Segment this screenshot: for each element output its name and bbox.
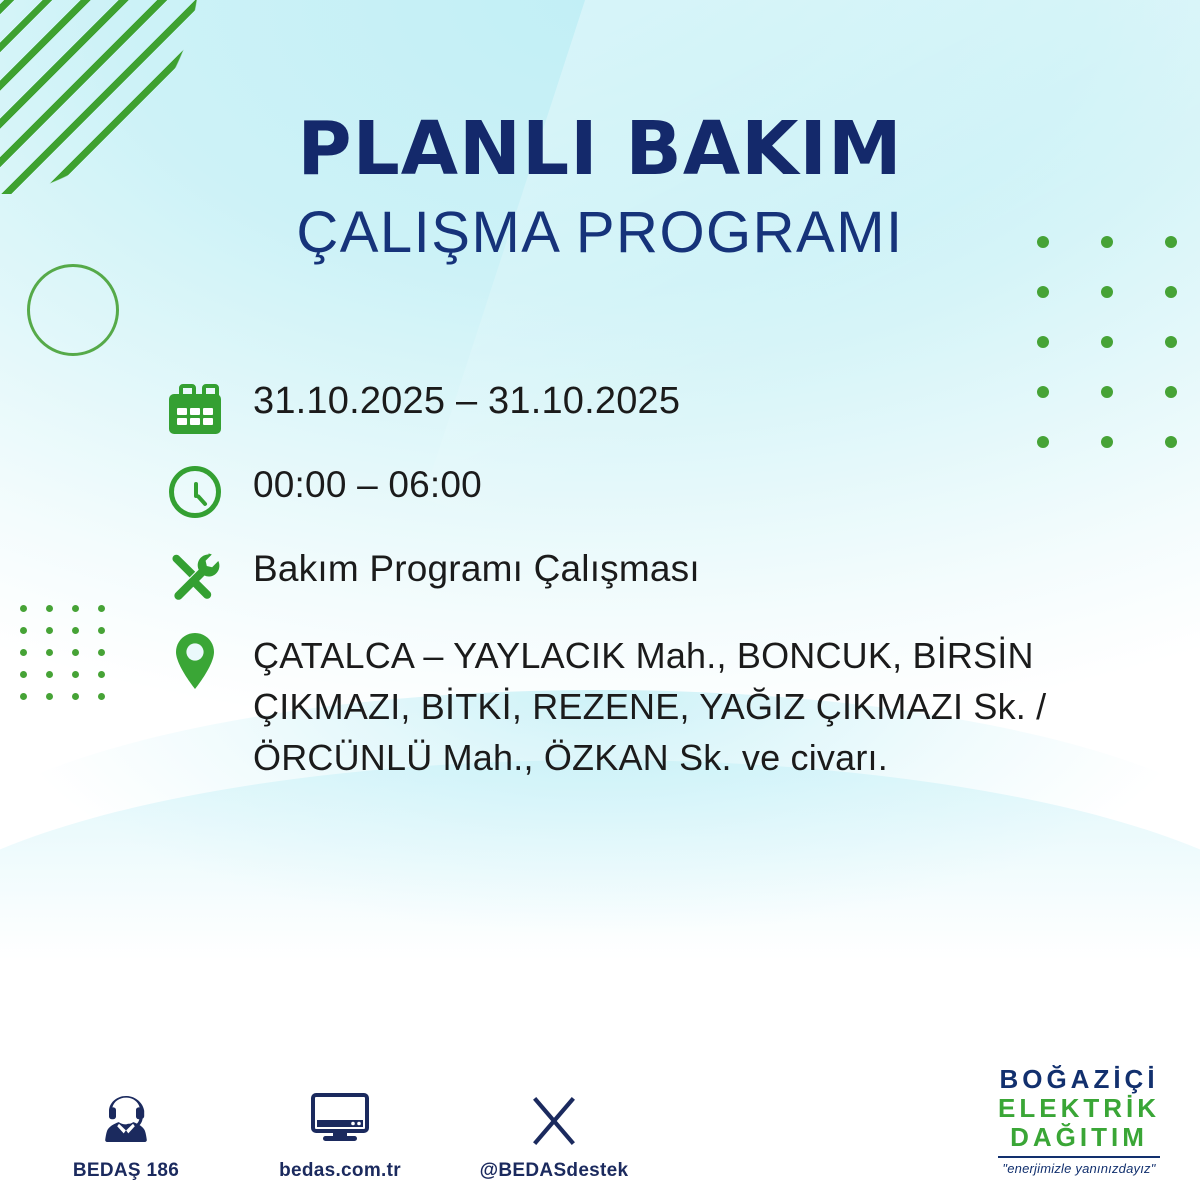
date-range-text: 31.10.2025 – 31.10.2025 <box>227 378 680 426</box>
logo-divider <box>998 1156 1160 1158</box>
contact-social[interactable]: @BEDASdestek <box>484 1088 624 1182</box>
detail-list: 31.10.2025 – 31.10.2025 00:00 – 06:00 Ba… <box>165 378 1175 805</box>
circle-outline-decoration <box>27 264 119 356</box>
monitor-icon <box>305 1088 375 1148</box>
contact-website[interactable]: bedas.com.tr <box>270 1088 410 1182</box>
detail-row-work-type: Bakım Programı Çalışması <box>165 546 1175 608</box>
clock-icon <box>165 462 227 524</box>
detail-row-date: 31.10.2025 – 31.10.2025 <box>165 378 1175 440</box>
detail-row-time: 00:00 – 06:00 <box>165 462 1175 524</box>
contact-phone[interactable]: BEDAŞ 186 <box>56 1088 196 1182</box>
work-type-text: Bakım Programı Çalışması <box>227 546 700 593</box>
x-twitter-icon <box>526 1088 582 1148</box>
logo-line-1: BOĞAZİÇİ <box>998 1065 1160 1094</box>
calendar-icon <box>165 378 227 440</box>
logo-tagline: "enerjimizle yanınızdayız" <box>998 1161 1160 1176</box>
company-logo: BOĞAZİÇİ ELEKTRİK DAĞITIM "enerjimizle y… <box>998 1065 1160 1176</box>
tools-icon <box>165 546 227 608</box>
headset-support-icon <box>97 1088 155 1148</box>
contact-phone-label: BEDAŞ 186 <box>73 1160 179 1182</box>
contact-list: BEDAŞ 186 bedas.com.tr <box>56 1088 624 1182</box>
detail-row-location: ÇATALCA – YAYLACIK Mah., BONCUK, BİRSİN … <box>165 630 1175 783</box>
title-secondary: ÇALIŞMA PROGRAMI <box>0 200 1200 267</box>
location-pin-icon <box>165 630 227 692</box>
time-range-text: 00:00 – 06:00 <box>227 462 482 509</box>
contact-website-label: bedas.com.tr <box>279 1160 401 1182</box>
logo-line-2: ELEKTRİK <box>998 1094 1160 1123</box>
dot-grid-left-decoration <box>20 598 124 708</box>
poster-canvas: PLANLI BAKIM ÇALIŞMA PROGRAMI 31.10.2025… <box>0 0 1200 1200</box>
page-title: PLANLI BAKIM ÇALIŞMA PROGRAMI <box>0 112 1200 267</box>
title-primary: PLANLI BAKIM <box>0 112 1200 186</box>
logo-line-3: DAĞITIM <box>998 1123 1160 1152</box>
footer: BEDAŞ 186 bedas.com.tr <box>0 1030 1200 1200</box>
affected-area-text: ÇATALCA – YAYLACIK Mah., BONCUK, BİRSİN … <box>227 630 1175 783</box>
contact-social-label: @BEDASdestek <box>480 1160 629 1182</box>
